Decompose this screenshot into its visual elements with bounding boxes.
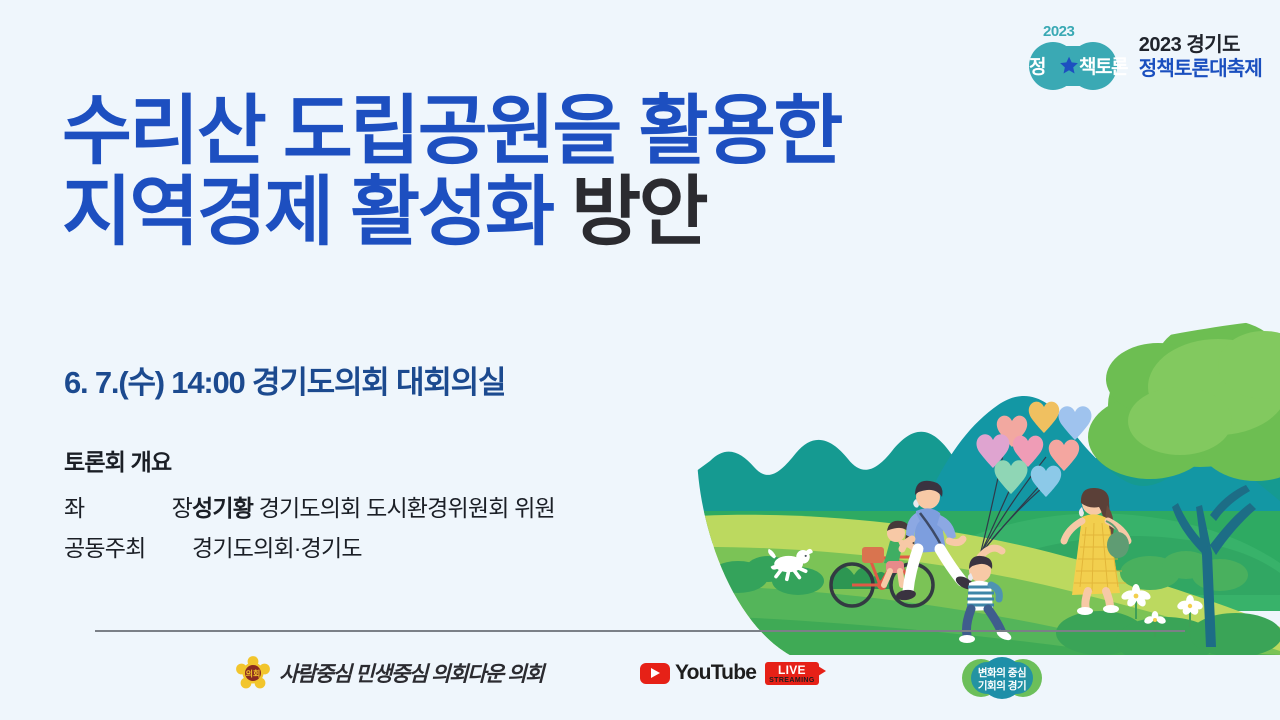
- svg-text:정: 정: [1029, 56, 1045, 78]
- overview-value-chair: 성기황 경기도의회 도시환경위원회 위원: [192, 489, 555, 523]
- live-label: LIVE: [769, 664, 815, 676]
- youtube-play-icon: [640, 663, 670, 684]
- svg-text:의회: 의회: [246, 669, 261, 679]
- overview-label-host: 공동주최: [64, 529, 192, 563]
- overview-label-chair: 좌 장: [64, 489, 192, 523]
- park-family-scene-illustration: [680, 255, 1280, 655]
- gyeonggi-slogan-line1: 변화의 중심: [978, 666, 1026, 679]
- overview-chair-affiliation: 경기도의회 도시환경위원회 위원: [259, 495, 555, 521]
- overview-row-chair: 좌 장 성기황 경기도의회 도시환경위원회 위원: [64, 489, 555, 523]
- footer-divider: [95, 630, 1185, 632]
- live-streaming-chip: LIVE STREAMING: [765, 662, 819, 685]
- event-datetime-venue: 6. 7.(수) 14:00 경기도의회 대회의실: [64, 357, 505, 402]
- girl-on-bicycle: [831, 521, 933, 606]
- gyeonggi-slogan-line2: 기회의 경기: [978, 679, 1026, 692]
- footer: 의회 사람중심 민생중심 의회다운 의회 YouTube LIVE STREAM…: [0, 650, 1280, 710]
- mother-in-yellow-dress: [1064, 488, 1129, 615]
- white-dog: [768, 549, 813, 580]
- festival-logo-text: 2023 경기도 정책토론대축제: [1139, 34, 1262, 81]
- svg-text:책토론: 책토론: [1079, 56, 1128, 78]
- title-line-1: 수리산 도립공원을 활용한: [62, 92, 962, 173]
- assembly-logo: 의회 사람중심 민생중심 의회다운 의회: [236, 656, 543, 690]
- title-line-2: 지역경제 활성화 방안: [62, 173, 962, 254]
- youtube-wordmark: YouTube: [675, 661, 756, 685]
- title-line-2-blue: 지역경제 활성화: [62, 170, 553, 255]
- overview-value-host: 경기도의회·경기도: [192, 529, 362, 563]
- title-line-2-dark: 방안: [571, 170, 706, 255]
- svg-text:2023: 2023: [1043, 23, 1075, 40]
- overview-block: 토론회 개요 좌 장 성기황 경기도의회 도시환경위원회 위원 공동주최 경기도…: [64, 443, 555, 569]
- festival-logo-line1: 2023 경기도: [1139, 34, 1262, 58]
- youtube-live-badge[interactable]: YouTube LIVE STREAMING: [640, 661, 819, 685]
- festival-logo-line2: 정책토론대축제: [1139, 58, 1262, 82]
- assembly-slogan: 사람중심 민생중심 의회다운 의회: [279, 658, 543, 688]
- festival-logo: 2023 정 책토론 2023 경기도 정책토론대축제: [1017, 22, 1262, 94]
- overview-row-host: 공동주최 경기도의회·경기도: [64, 529, 555, 563]
- youtube-wordmark-group[interactable]: YouTube: [640, 661, 756, 685]
- boy-with-balloons: [959, 548, 1013, 643]
- overview-label-chair-char1: 좌: [64, 489, 84, 523]
- heart-balloons: [977, 402, 1092, 555]
- overview-chair-name: 성기황: [192, 495, 253, 521]
- gyeonggi-slogan-logo-icon: 변화의 중심 기회의 경기: [955, 654, 1051, 702]
- streaming-label: STREAMING: [769, 677, 815, 684]
- assembly-flower-emblem-icon: 의회: [236, 656, 270, 690]
- overview-label-chair-char2: 장: [172, 489, 192, 523]
- page-title: 수리산 도립공원을 활용한 지역경제 활성화 방안: [62, 92, 962, 253]
- father-walking: [895, 481, 976, 602]
- poster-canvas: 2023 정 책토론 2023 경기도 정책토론대축제 수리산 도립공원을 활용…: [0, 0, 1280, 720]
- festival-logo-mark: 2023 정 책토론: [1017, 22, 1129, 94]
- overview-heading: 토론회 개요: [64, 443, 555, 477]
